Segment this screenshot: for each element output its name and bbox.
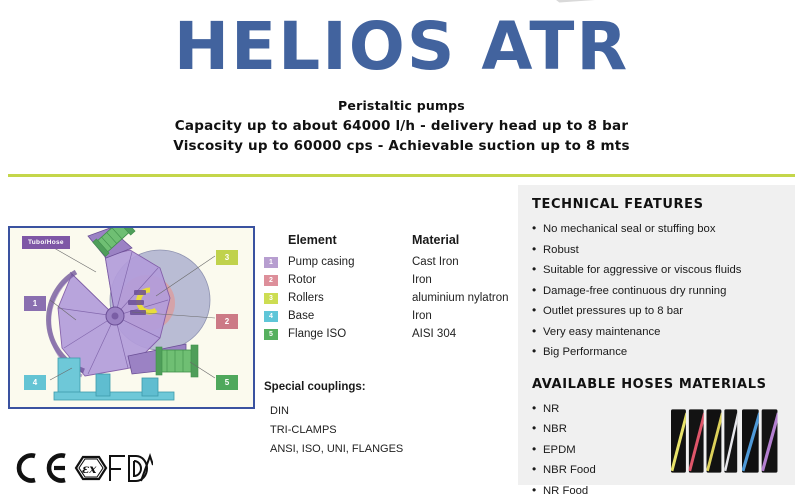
- hose-material-item: NBR: [532, 419, 663, 440]
- feature-item: Very easy maintenance: [532, 322, 781, 343]
- diagram-hose-label: Tubo/Hose: [22, 236, 70, 249]
- coupling-item: TRI-CLAMPS: [264, 421, 514, 440]
- row-element: Flange ISO: [288, 328, 412, 340]
- page-header: HELIOS ATR Peristaltic pumps Capacity up…: [0, 0, 803, 156]
- diagram-callout-5: 5: [216, 375, 238, 390]
- row-material: Iron: [412, 310, 432, 322]
- atex-ex-icon: εx: [76, 457, 106, 479]
- feature-item: Robust: [532, 240, 781, 261]
- row-material: aluminium nylatron: [412, 292, 509, 304]
- couplings-title: Special couplings:: [264, 381, 514, 393]
- column-header-element: Element: [288, 233, 412, 247]
- coupling-item: DIN: [264, 402, 514, 421]
- diagram-callout-2: 2: [216, 314, 238, 329]
- subtitle-pump-type: Peristaltic pumps: [0, 96, 803, 116]
- row-material: Cast Iron: [412, 256, 459, 268]
- table-row: 2 Rotor Iron: [264, 271, 514, 289]
- certification-logos: εx: [8, 449, 158, 489]
- row-number-badge: 4: [264, 311, 278, 322]
- main-content: Tubo/Hose 1 2 3 4 5 Element Material 1 P…: [0, 185, 803, 500]
- row-number-badge: 5: [264, 329, 278, 340]
- ce-icon: [19, 456, 65, 481]
- row-element: Rotor: [288, 274, 412, 286]
- table-row: 5 Flange ISO AISI 304: [264, 325, 514, 343]
- coupling-item: ANSI, ISO, UNI, FLANGES: [264, 440, 514, 459]
- fda-icon: [110, 456, 153, 481]
- hose-material-item: NR Food: [532, 481, 663, 501]
- hose-samples-photo: [671, 405, 781, 477]
- feature-item: No mechanical seal or stuffing box: [532, 219, 781, 240]
- diagram-callout-3: 3: [216, 250, 238, 265]
- feature-item: Damage-free continuous dry running: [532, 281, 781, 302]
- subtitle-block: Peristaltic pumps Capacity up to about 6…: [0, 96, 803, 156]
- hoses-materials-list: NR NBR EPDM NBR Food NR Food: [532, 399, 663, 501]
- hose-material-item: EPDM: [532, 440, 663, 461]
- table-row: 1 Pump casing Cast Iron: [264, 253, 514, 271]
- hose-material-item: NBR Food: [532, 460, 663, 481]
- table-row: 3 Rollers aluminium nylatron: [264, 289, 514, 307]
- row-number-badge: 1: [264, 257, 278, 268]
- table-row: 4 Base Iron: [264, 307, 514, 325]
- diagram-callout-4: 4: [24, 375, 46, 390]
- pump-diagram: Tubo/Hose 1 2 3 4 5: [8, 226, 255, 409]
- column-header-material: Material: [412, 233, 459, 247]
- element-material-table: Element Material 1 Pump casing Cast Iron…: [264, 233, 514, 343]
- feature-item: Big Performance: [532, 342, 781, 363]
- page-title: HELIOS ATR: [0, 0, 803, 80]
- diagram-callout-1: 1: [24, 296, 46, 311]
- row-element: Pump casing: [288, 256, 412, 268]
- row-material: Iron: [412, 274, 432, 286]
- row-number-badge: 3: [264, 293, 278, 304]
- row-number-badge: 2: [264, 275, 278, 286]
- special-couplings-section: Special couplings: DIN TRI-CLAMPS ANSI, …: [264, 381, 514, 459]
- table-header-row: Element Material: [264, 233, 514, 247]
- row-element: Base: [288, 310, 412, 322]
- feature-item: Outlet pressures up to 8 bar: [532, 301, 781, 322]
- hose-material-item: NR: [532, 399, 663, 420]
- header-divider: [8, 174, 795, 177]
- hoses-materials-title: AVAILABLE HOSES MATERIALS: [532, 377, 781, 392]
- technical-features-title: TECHNICAL FEATURES: [532, 197, 781, 212]
- subtitle-capacity: Capacity up to about 64000 l/h - deliver…: [0, 116, 803, 136]
- row-material: AISI 304: [412, 328, 456, 340]
- row-element: Rollers: [288, 292, 412, 304]
- subtitle-viscosity: Viscosity up to 60000 cps - Achievable s…: [0, 136, 803, 156]
- feature-item: Suitable for aggressive or viscous fluid…: [532, 260, 781, 281]
- technical-panel: TECHNICAL FEATURES No mechanical seal or…: [518, 185, 795, 485]
- svg-text:εx: εx: [82, 462, 97, 476]
